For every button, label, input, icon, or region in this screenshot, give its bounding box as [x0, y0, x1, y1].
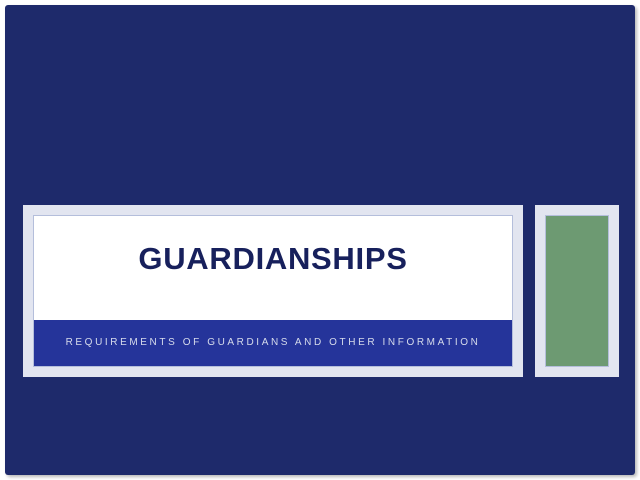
title-area: GUARDIANSHIPS — [34, 216, 512, 320]
subtitle-band: REQUIREMENTS OF GUARDIANS AND OTHER INFO… — [34, 320, 512, 366]
accent-block — [545, 215, 609, 367]
slide-canvas: GUARDIANSHIPS REQUIREMENTS OF GUARDIANS … — [5, 5, 635, 475]
slide-title: GUARDIANSHIPS — [124, 243, 421, 276]
title-placeholder-frame: GUARDIANSHIPS REQUIREMENTS OF GUARDIANS … — [23, 205, 523, 377]
accent-block-frame — [535, 205, 619, 377]
title-placeholder-inner: GUARDIANSHIPS REQUIREMENTS OF GUARDIANS … — [33, 215, 513, 367]
slide-subtitle: REQUIREMENTS OF GUARDIANS AND OTHER INFO… — [48, 336, 499, 351]
